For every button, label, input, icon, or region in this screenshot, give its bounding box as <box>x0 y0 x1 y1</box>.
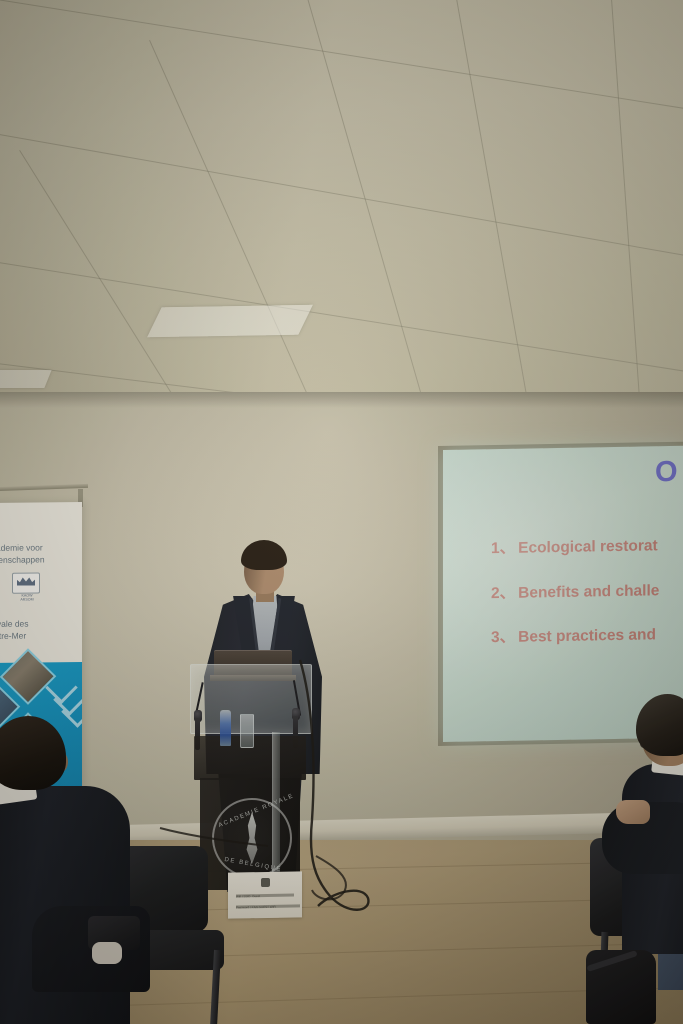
information-sign[interactable]: Wifi | SSID_Guest Password | KAN GUEST W… <box>228 871 302 918</box>
slide-item-3: 3、Best practices and <box>491 626 683 646</box>
sign-logo-icon <box>261 878 270 887</box>
wall-ceiling-junction <box>0 392 683 408</box>
crest-caption: KAOWARSOM <box>12 594 42 602</box>
sign-line-2: Password | KAN GUEST WIFI <box>236 904 300 908</box>
banner-line-4: l'Outre-Mer <box>0 631 26 643</box>
slide-item-2: 2、Benefits and challe <box>491 581 683 601</box>
sign-line-1: Wifi | SSID_Guest <box>236 893 294 897</box>
slide-item-1: 1、Ecological restorat <box>491 537 683 557</box>
slide-item-3-text: Best practices and <box>518 626 656 645</box>
drinking-glass[interactable] <box>240 714 254 748</box>
banner-line-2: Vetenschappen <box>0 554 45 566</box>
ceiling-light-panel <box>147 305 313 338</box>
speaker-hair <box>241 540 287 570</box>
audience-member-left <box>0 716 230 1024</box>
ceiling <box>0 0 683 400</box>
presentation-photo: O 1、Ecological restorat 2、Benefits and c… <box>0 0 683 1024</box>
audience-left-head <box>0 716 66 790</box>
ceiling-light-panel-edge <box>0 370 52 388</box>
audience-right-hands <box>616 800 650 824</box>
slide-title: O <box>655 458 678 487</box>
banner-line-3: Royale des <box>0 619 29 631</box>
banner-crest-icon: KAOWARSOM <box>12 572 42 602</box>
slide-item-1-number: 1、 <box>491 540 515 557</box>
slide-item-3-number: 3、 <box>491 629 515 646</box>
slide-bullet-list: 1、Ecological restorat 2、Benefits and cha… <box>491 537 683 675</box>
backpack-strap <box>586 950 637 972</box>
slide-item-1-text: Ecological restorat <box>518 537 658 556</box>
crown-icon <box>17 576 35 585</box>
banner-line-1: Academie voor <box>0 542 43 554</box>
audience-right-hair <box>636 694 683 756</box>
audience-left-hand <box>92 942 122 964</box>
backpack-on-floor[interactable] <box>586 950 656 1024</box>
slide-item-2-text: Benefits and challe <box>518 582 659 601</box>
slide-item-2-number: 2、 <box>491 584 515 601</box>
